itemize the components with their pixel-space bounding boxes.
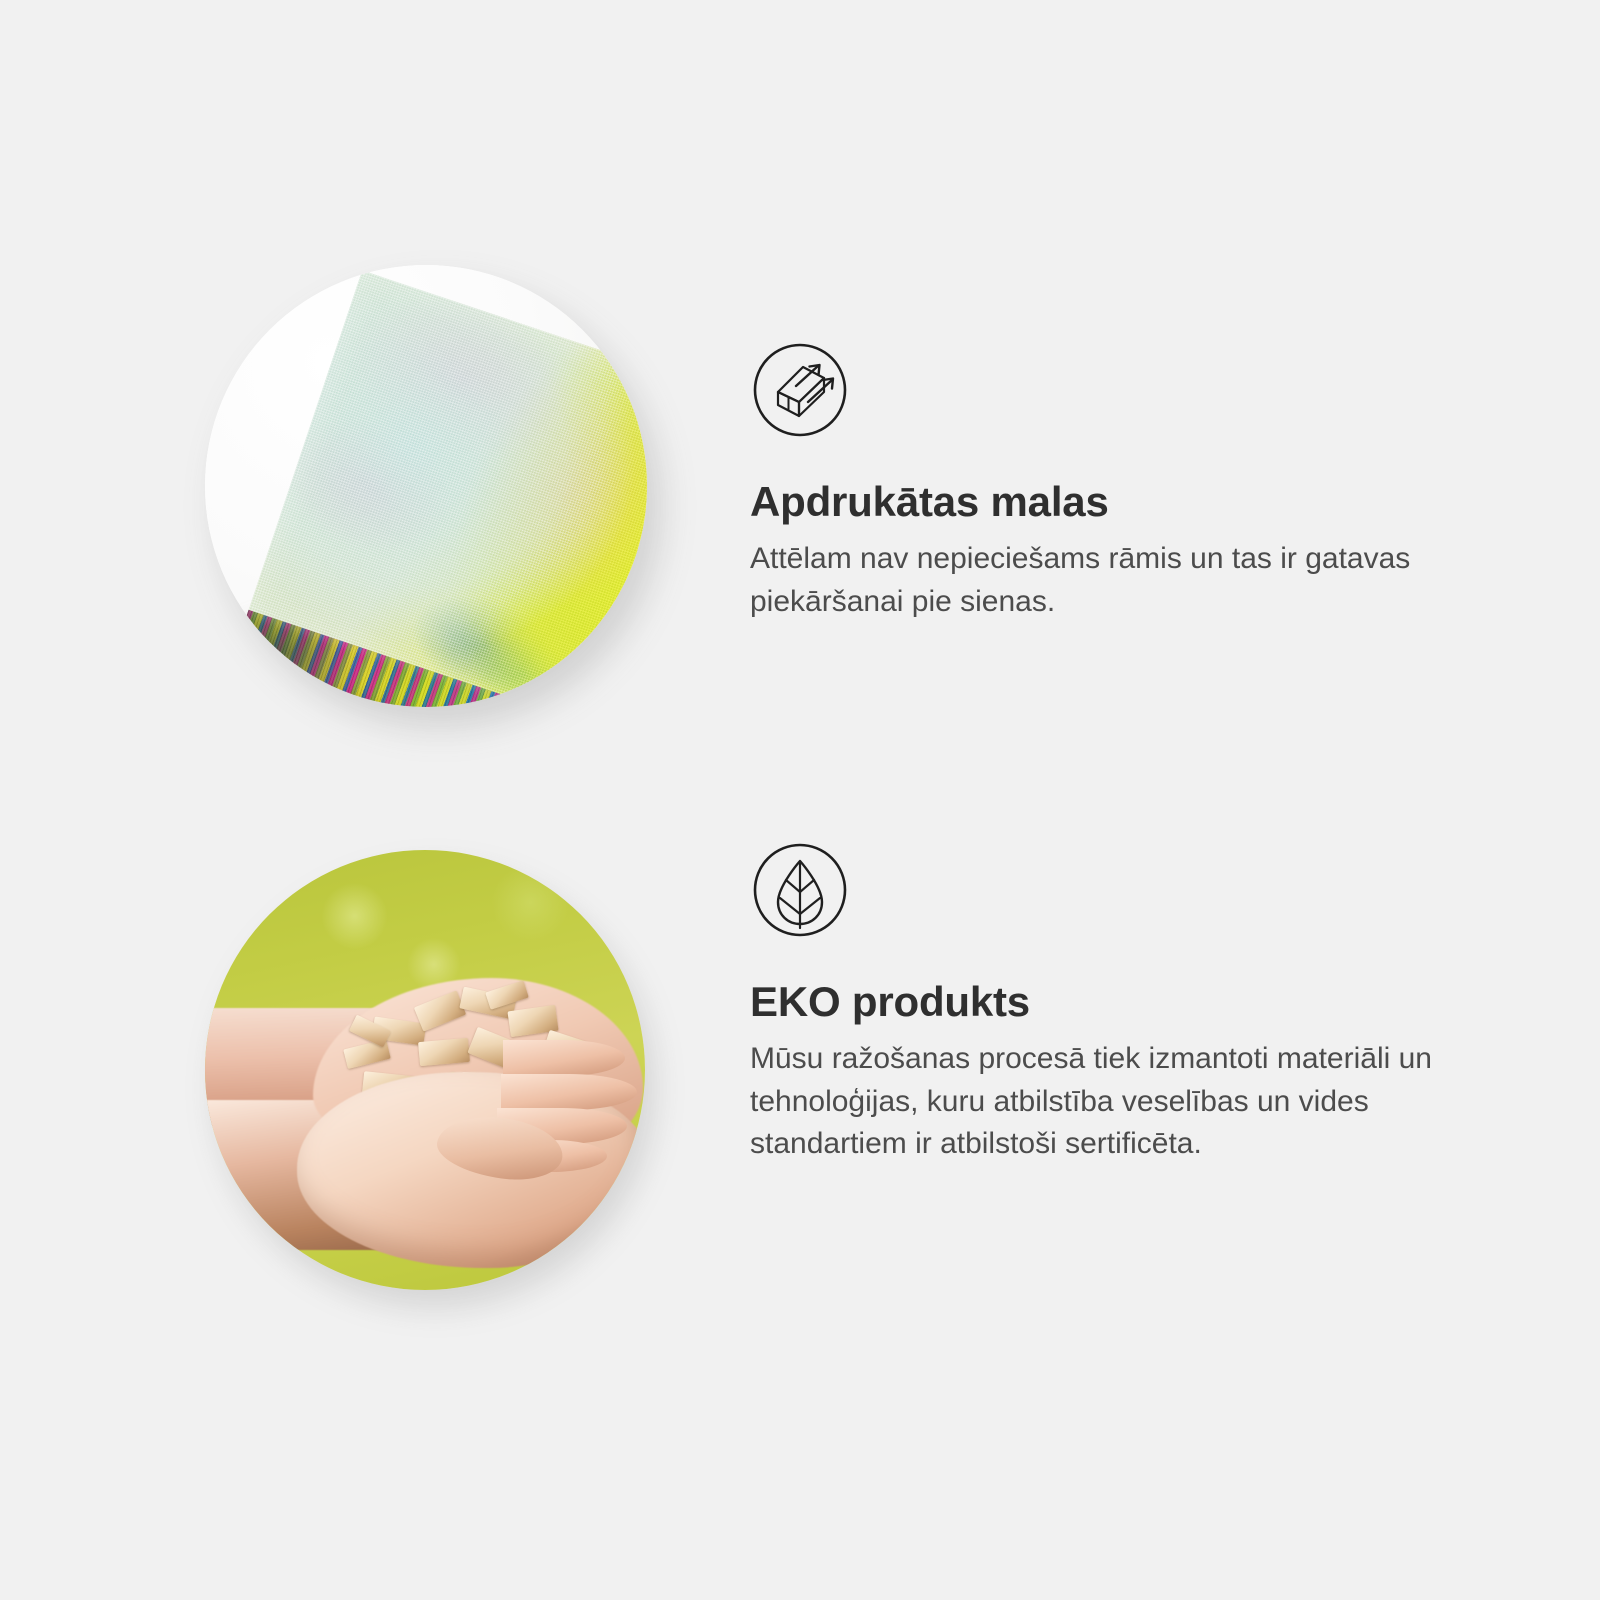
wood-chips-in-hands-photo (205, 850, 645, 1290)
feature-description: Mūsu ražošanas procesā tiek izmantoti ma… (750, 1038, 1470, 1166)
feature-highlights-page: Apdrukātas malas Attēlam nav nepieciešam… (0, 0, 1600, 1600)
feature-text-printed-edges: Apdrukātas malas Attēlam nav nepieciešam… (750, 340, 1510, 623)
feature-title: Apdrukātas malas (750, 480, 1510, 524)
printed-edges-icon (750, 340, 850, 440)
feature-title: EKO produkts (750, 980, 1510, 1024)
feature-printed-edges: Apdrukātas malas Attēlam nav nepieciešam… (0, 250, 1600, 750)
feature-description: Attēlam nav nepieciešams rāmis un tas ir… (750, 538, 1470, 623)
leaf-icon (750, 840, 850, 940)
canvas-corner-photo (205, 265, 647, 707)
feature-text-eco-product: EKO produkts Mūsu ražošanas procesā tiek… (750, 840, 1510, 1166)
feature-eco-product: EKO produkts Mūsu ražošanas procesā tiek… (0, 840, 1600, 1340)
